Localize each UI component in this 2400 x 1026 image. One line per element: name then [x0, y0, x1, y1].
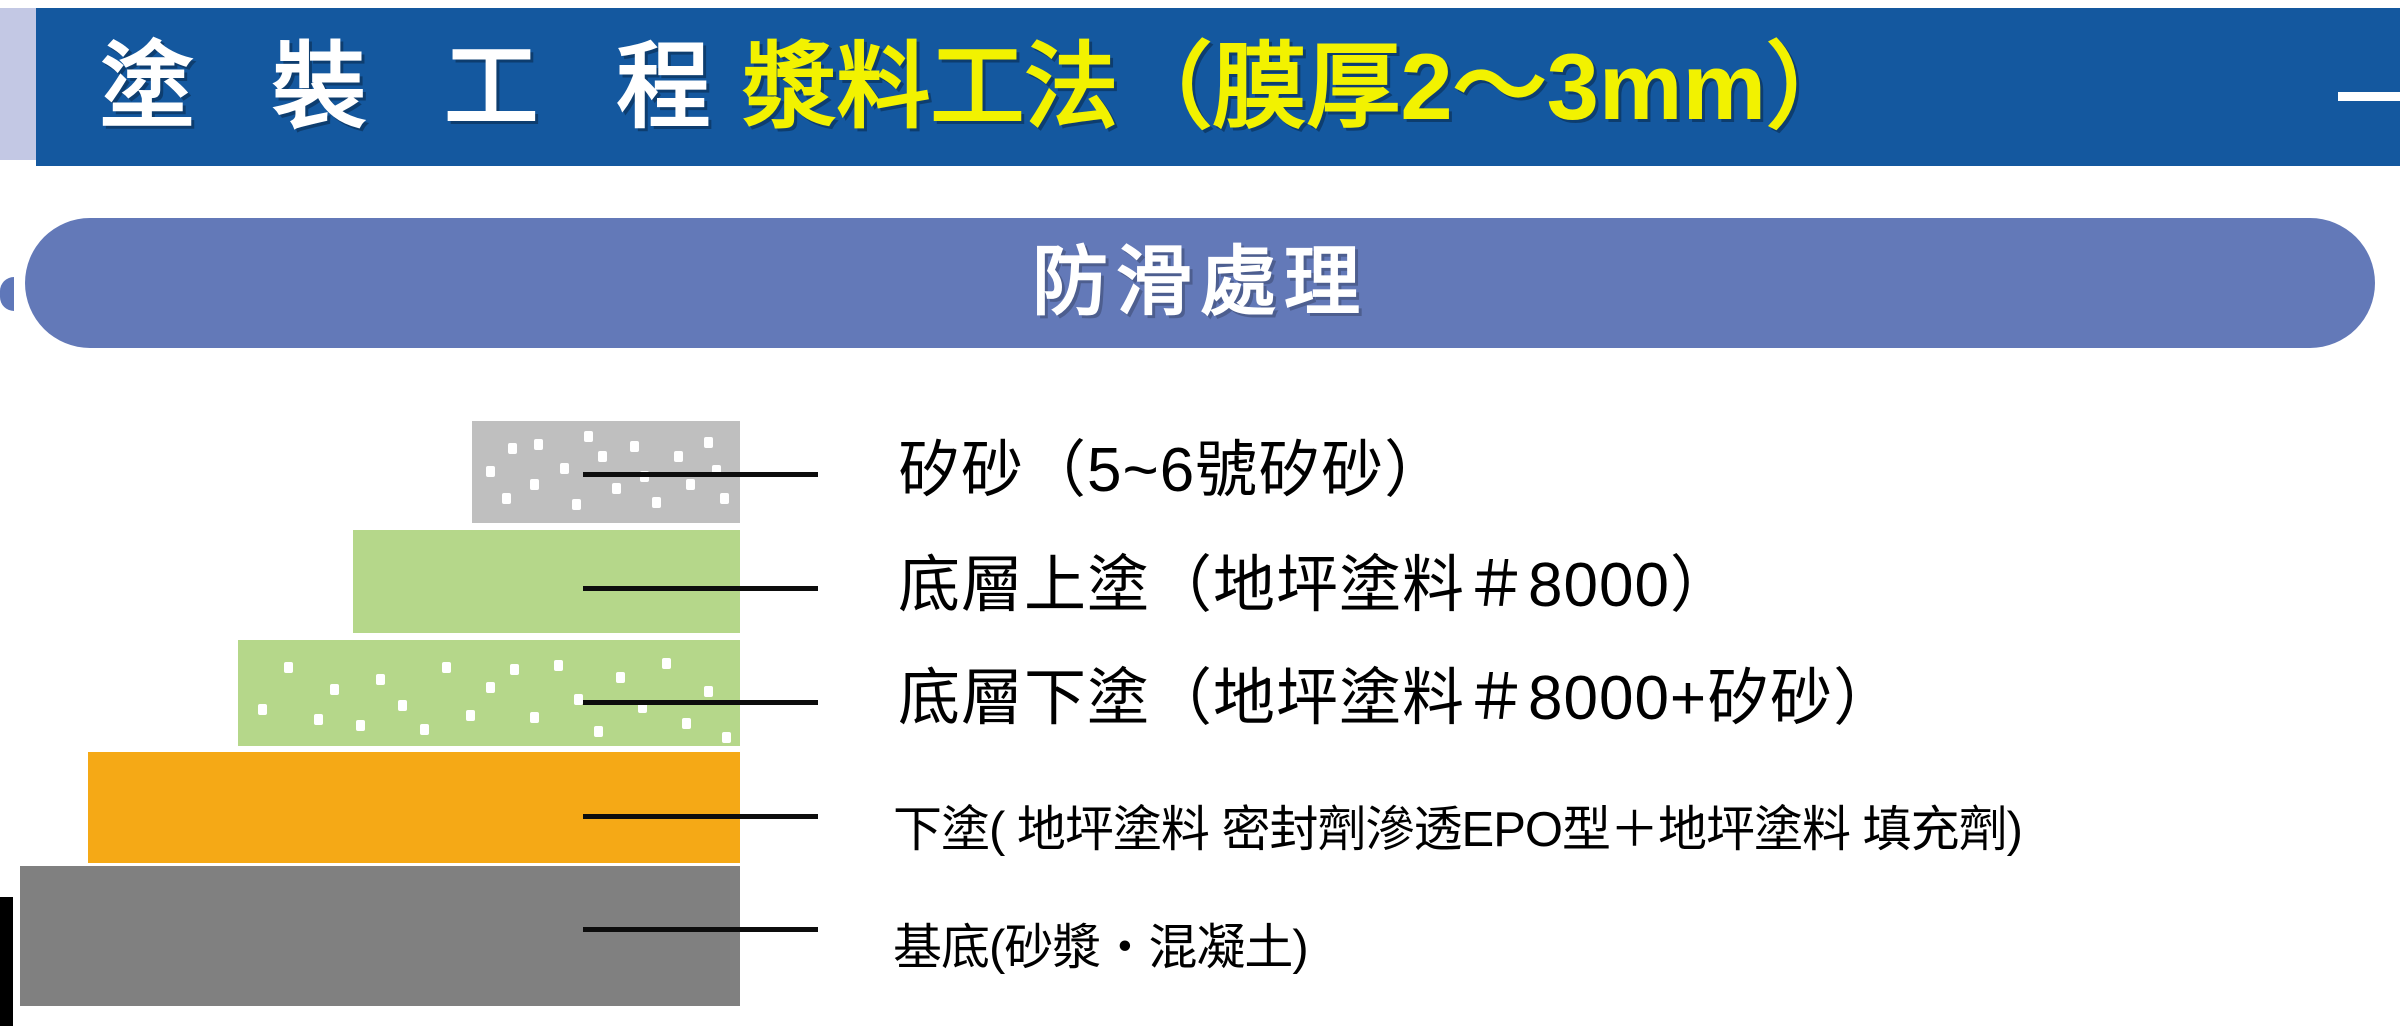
layer-label-base-undercoat: 底層下塗（地坪塗料＃8000+矽砂） [898, 668, 1896, 730]
bottom-left-black-marker [0, 897, 13, 1026]
layer-label-primer: 下塗( 地坪塗料 密封劑滲透EPO型＋地坪塗料 填充劑) [893, 806, 2022, 855]
layer-block-substrate [20, 866, 740, 1006]
leader-line-substrate [583, 927, 818, 932]
leader-line-base-undercoat [583, 700, 818, 705]
leader-line-primer [583, 814, 818, 819]
header-right-dash-mark [2338, 92, 2400, 101]
leader-line-silica-sand [583, 472, 818, 477]
layer-stack-diagram: 矽砂（5~6號矽砂） 底層上塗（地坪塗料＃8000） [0, 400, 2400, 1026]
header-title: 塗 裝 工 程 漿料工法（膜厚2～3mm） [100, 14, 1860, 160]
speckle-pattern-base-undercoat [238, 640, 740, 746]
section-pill-label: 防滑處理 [1032, 245, 1368, 321]
layer-block-base-undercoat [238, 640, 740, 746]
layer-label-base-topcoat: 底層上塗（地坪塗料＃8000） [898, 555, 1733, 617]
layer-label-silica-sand: 矽砂（5~6號矽砂） [898, 440, 1447, 502]
layer-label-substrate: 基底(砂漿・混凝土) [893, 924, 1308, 973]
header-banner: 塗 裝 工 程 漿料工法（膜厚2～3mm） [0, 8, 2400, 166]
section-pill-banner: 防滑處理 [25, 218, 2375, 348]
header-title-main-text: 塗 裝 工 程 [100, 40, 736, 134]
header-title-sub-text: 漿料工法（膜厚2～3mm） [742, 40, 1860, 134]
header-left-accent-strip [0, 8, 36, 160]
section-pill-left-arc [0, 277, 14, 311]
layer-block-primer [88, 752, 740, 863]
layer-block-base-topcoat [353, 530, 740, 633]
leader-line-base-topcoat [583, 586, 818, 591]
